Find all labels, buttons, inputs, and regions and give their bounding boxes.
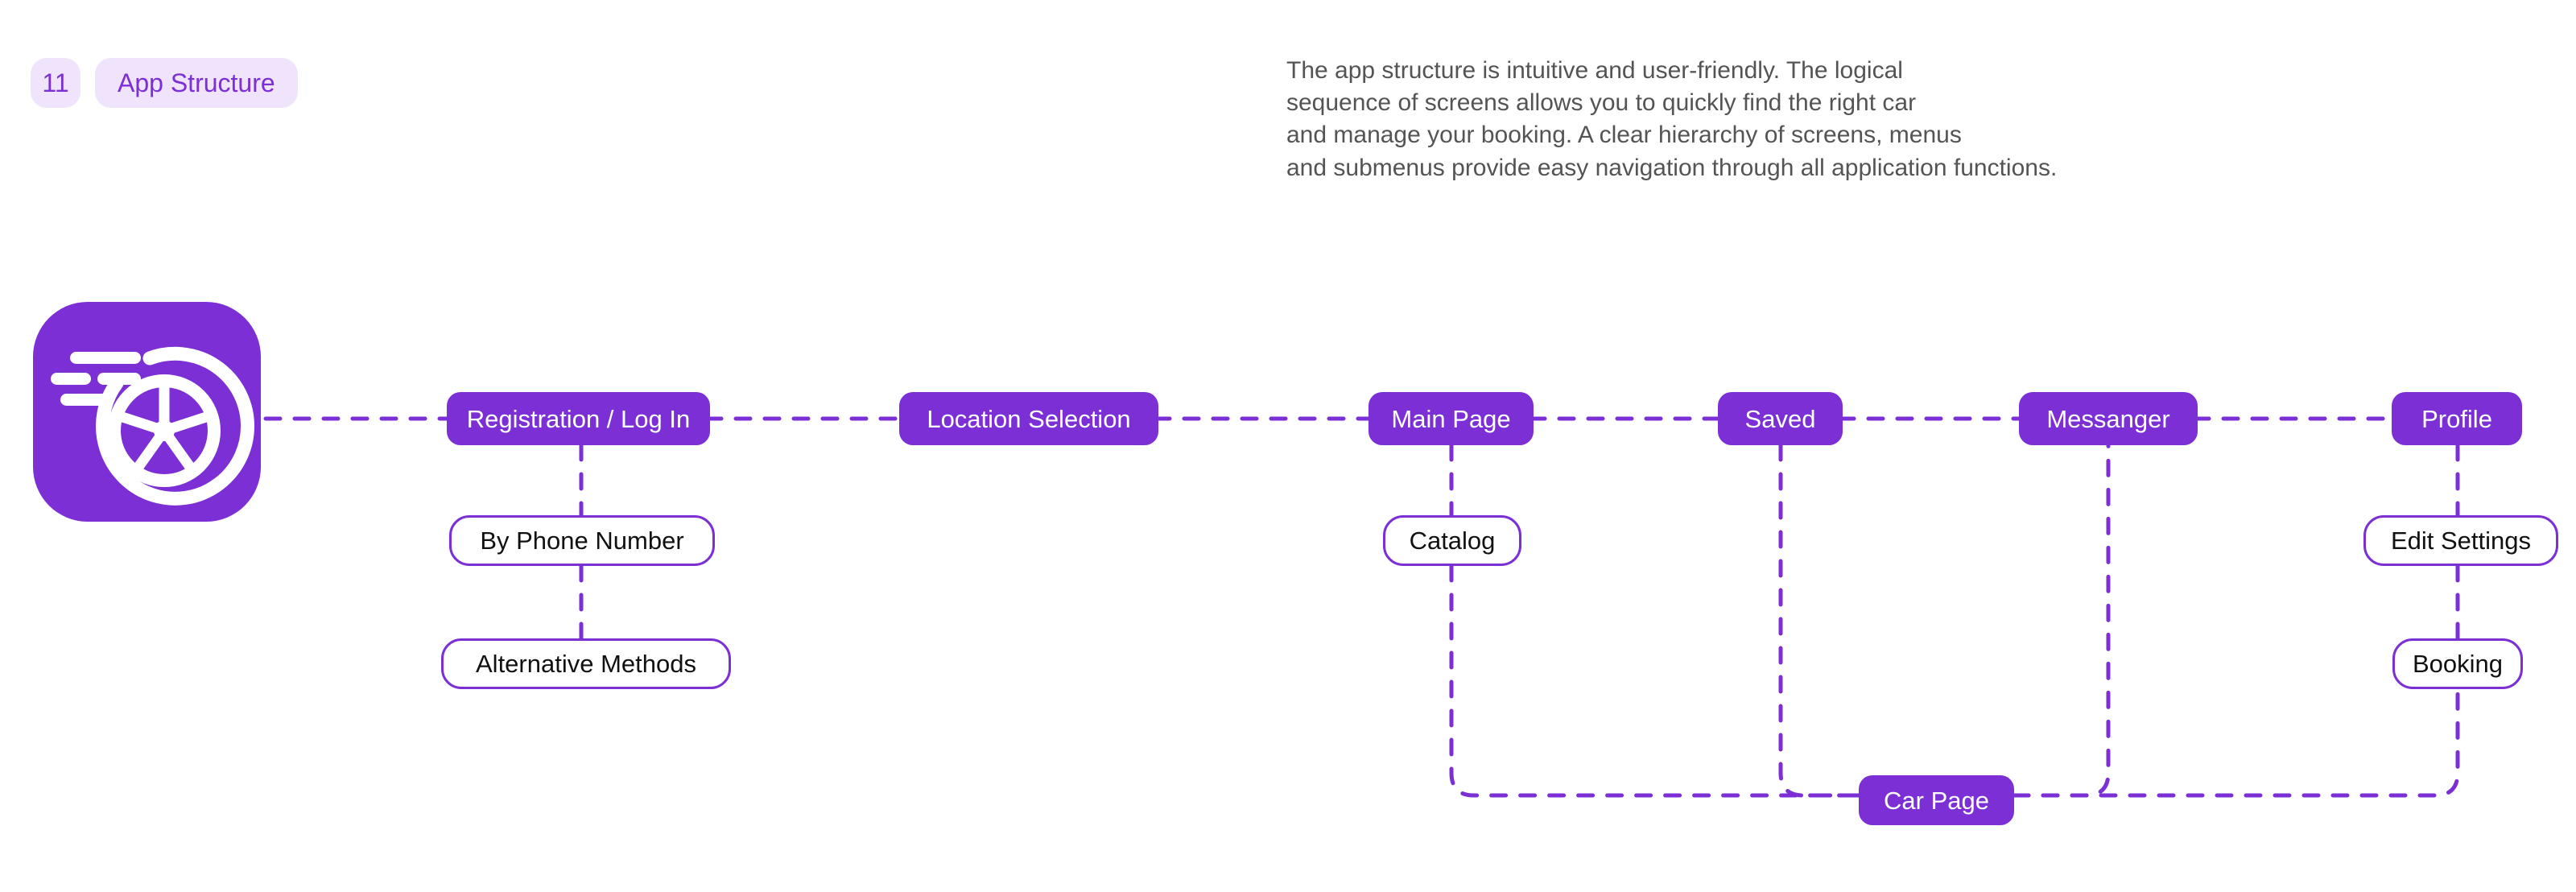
node-catalog[interactable]: Catalog: [1383, 515, 1521, 566]
node-messanger[interactable]: Messanger: [2019, 392, 2198, 445]
node-label: Main Page: [1391, 407, 1510, 432]
node-label: Messanger: [2046, 407, 2169, 432]
connector-carpage-to-messanger: [2014, 445, 2108, 795]
connector-catalog-to-bottom-rail: [1451, 566, 1863, 795]
node-label: Edit Settings: [2391, 528, 2531, 553]
node-label: Alternative Methods: [476, 651, 696, 676]
node-saved[interactable]: Saved: [1718, 392, 1843, 445]
node-label: Saved: [1745, 407, 1816, 432]
node-label: Catalog: [1410, 528, 1496, 553]
speed-line-2: [51, 373, 91, 385]
node-car-page[interactable]: Car Page: [1859, 775, 2014, 825]
node-label: Booking: [2413, 651, 2503, 676]
car-rental-app-icon: [33, 302, 261, 522]
node-label: Location Selection: [927, 407, 1130, 432]
node-label: Profile: [2421, 407, 2492, 432]
speed-line-1: [70, 352, 141, 364]
node-by-phone-number[interactable]: By Phone Number: [449, 515, 715, 566]
node-profile[interactable]: Profile: [2392, 392, 2522, 445]
node-label: Registration / Log In: [467, 407, 690, 432]
node-main-page[interactable]: Main Page: [1368, 392, 1534, 445]
node-alternative-methods[interactable]: Alternative Methods: [441, 638, 731, 689]
connector-lines: [0, 0, 2576, 892]
node-label: By Phone Number: [480, 528, 683, 553]
app-structure-flow-diagram: Registration / Log In Location Selection…: [0, 0, 2576, 892]
node-booking[interactable]: Booking: [2392, 638, 2523, 689]
node-edit-settings[interactable]: Edit Settings: [2363, 515, 2558, 566]
connector-saved-to-bottom-rail: [1781, 445, 1863, 795]
connector-carpage-to-booking: [2014, 689, 2458, 795]
node-label: Car Page: [1884, 788, 1989, 813]
node-location-selection[interactable]: Location Selection: [899, 392, 1158, 445]
node-registration[interactable]: Registration / Log In: [447, 392, 710, 445]
